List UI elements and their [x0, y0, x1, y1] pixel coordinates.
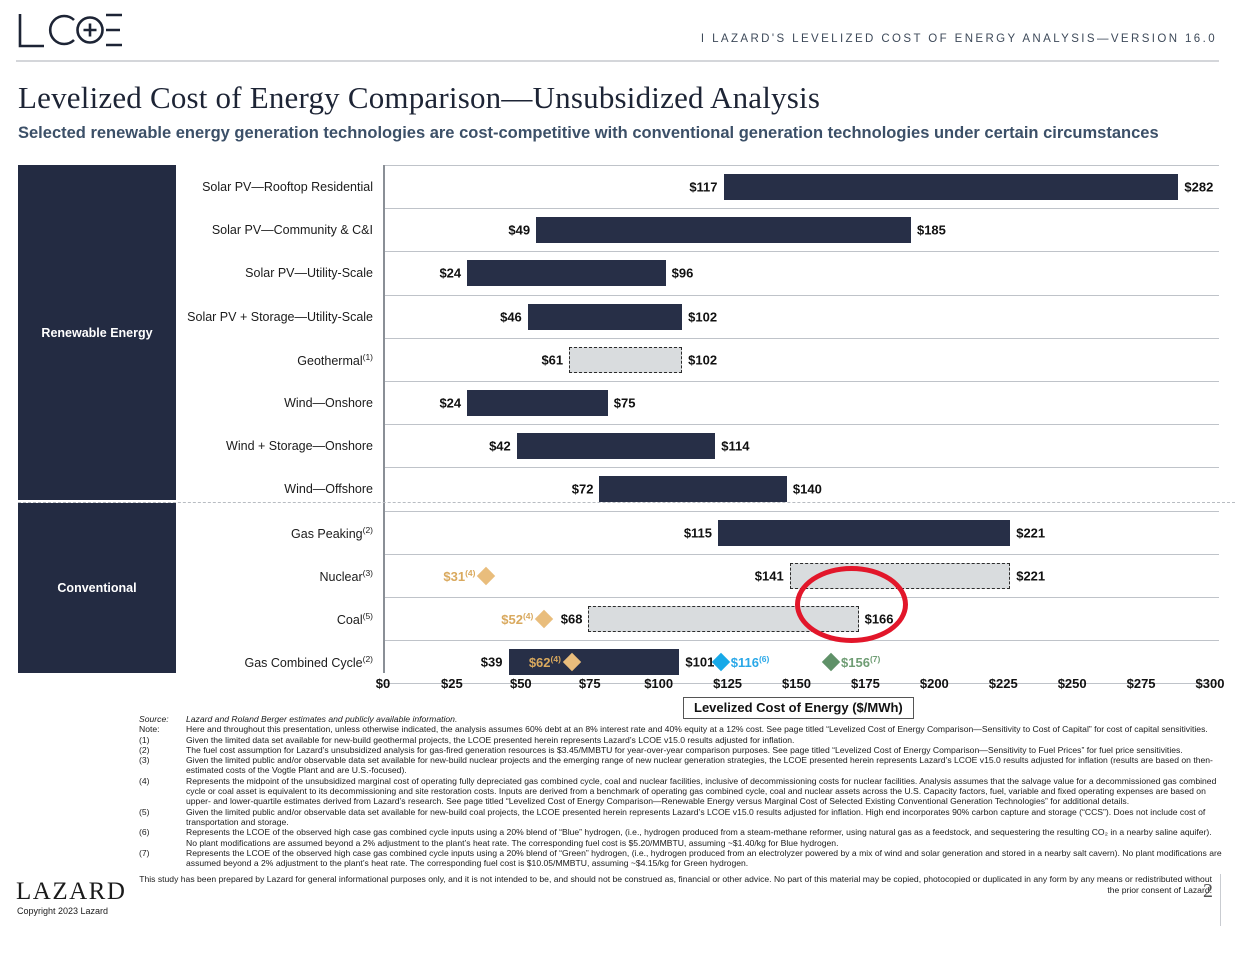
footnote-key: (2) — [139, 745, 186, 755]
marker-footnote-ref: (4) — [465, 568, 475, 578]
page-number: 2 — [1203, 880, 1213, 903]
category-panel-renewable: Renewable Energy — [18, 165, 176, 500]
bar-high-value: $96 — [672, 266, 694, 281]
row-label: Gas Combined Cycle(2) — [245, 654, 374, 670]
row-label: Solar PV—Utility-Scale — [245, 266, 373, 280]
row-label: Geothermal(1) — [297, 352, 373, 368]
row-label: Nuclear(3) — [320, 568, 373, 584]
bar-low-value: $115 — [684, 525, 712, 540]
marker-diamond-green — [822, 653, 840, 671]
marker-value-label: $31(4) — [443, 568, 475, 584]
lazard-logo: LAZARD — [16, 878, 126, 906]
group-divider — [18, 502, 1235, 503]
range-bar — [599, 476, 786, 502]
x-axis-tick: $125 — [713, 676, 742, 691]
x-axis-tick: $225 — [989, 676, 1018, 691]
footnote-key: (4) — [139, 776, 186, 807]
row-label: Solar PV—Community & C&I — [212, 223, 373, 237]
marker-value-label: $116(6) — [731, 654, 770, 670]
bar-high-value: $221 — [1016, 525, 1045, 540]
x-axis-tick: $300 — [1196, 676, 1225, 691]
footnote-item: (3)Given the limited public and/or obser… — [139, 755, 1224, 776]
chart-row: Solar PV—Utility-Scale$24$96 — [383, 252, 1219, 295]
bar-high-value: $101 — [685, 655, 714, 670]
bar-low-value: $68 — [561, 611, 583, 626]
lcoe-logo — [16, 10, 124, 59]
footnote-text: Given the limited data set available for… — [186, 735, 1224, 745]
page-subtitle: Selected renewable energy generation tec… — [18, 124, 1159, 143]
marker-footnote-ref: (6) — [759, 654, 769, 664]
range-bar — [528, 304, 682, 330]
row-plot: $117$282 — [401, 166, 1219, 208]
bar-high-value: $75 — [614, 396, 636, 411]
range-bar — [467, 390, 608, 416]
legal-disclaimer: This study has been prepared by Lazard f… — [139, 874, 1224, 895]
copyright-text: Copyright 2023 Lazard — [17, 906, 108, 916]
range-bar — [790, 563, 1011, 589]
bar-high-value: $166 — [865, 611, 894, 626]
footnote-text: Given the limited public and/or observab… — [186, 755, 1224, 776]
row-plot: $141$221$31(4) — [401, 555, 1219, 597]
x-axis-tick: $175 — [851, 676, 880, 691]
row-plot: $49$185 — [401, 209, 1219, 251]
chart-row: Solar PV—Rooftop Residential$117$282 — [383, 165, 1219, 209]
bar-low-value: $39 — [481, 655, 503, 670]
footnote-key: (6) — [139, 827, 186, 848]
row-label-footnote-ref: (2) — [363, 654, 373, 664]
header-divider — [16, 60, 1219, 62]
header-deck-title: I LAZARD'S LEVELIZED COST OF ENERGY ANAL… — [701, 33, 1217, 45]
row-label: Gas Peaking(2) — [291, 525, 373, 541]
x-axis: $0$25$50$75$100$125$150$175$200$225$250$… — [0, 676, 1235, 698]
row-label: Solar PV—Rooftop Residential — [202, 180, 373, 194]
footnote-text: The fuel cost assumption for Lazard’s un… — [186, 745, 1224, 755]
chart-row: Nuclear(3)$141$221$31(4) — [383, 555, 1219, 598]
footnotes-block: Source:Lazard and Roland Berger estimate… — [139, 714, 1224, 895]
page-number-divider — [1220, 874, 1221, 926]
bar-low-value: $141 — [755, 568, 784, 583]
bar-high-value: $282 — [1184, 180, 1213, 195]
footnote-text: Lazard and Roland Berger estimates and p… — [186, 714, 1224, 724]
footnote-key: Source: — [139, 714, 186, 724]
marker-diamond-gold — [477, 567, 495, 585]
footnote-key: (1) — [139, 735, 186, 745]
x-axis-tick: $250 — [1058, 676, 1087, 691]
row-plot: $68$166$52(4) — [401, 598, 1219, 640]
footnote-item: (2)The fuel cost assumption for Lazard’s… — [139, 745, 1224, 755]
footnote-item: (1)Given the limited data set available … — [139, 735, 1224, 745]
row-plot: $24$96 — [401, 252, 1219, 294]
footnote-key: (3) — [139, 755, 186, 776]
range-bar — [517, 433, 715, 459]
page-title: Levelized Cost of Energy Comparison—Unsu… — [18, 80, 820, 116]
chart-row: Solar PV—Community & C&I$49$185 — [383, 209, 1219, 252]
footnote-key: (7) — [139, 848, 186, 869]
marker-value-label: $52(4) — [501, 611, 533, 627]
range-bar — [724, 174, 1179, 200]
x-axis-tick: $50 — [510, 676, 532, 691]
row-label: Coal(5) — [337, 611, 373, 627]
row-label-footnote-ref: (3) — [363, 568, 373, 578]
row-label: Wind—Onshore — [284, 396, 373, 410]
bar-high-value: $114 — [721, 439, 749, 454]
chart-rows: Solar PV—Rooftop Residential$117$282Sola… — [383, 165, 1219, 673]
bar-low-value: $72 — [572, 482, 594, 497]
footnote-item: (7)Represents the LCOE of the observed h… — [139, 848, 1224, 869]
row-label: Wind—Offshore — [284, 482, 373, 496]
category-panel-conventional: Conventional — [18, 503, 176, 673]
bar-low-value: $46 — [500, 309, 522, 324]
x-axis-tick: $150 — [782, 676, 811, 691]
footnote-text: Represents the LCOE of the observed high… — [186, 848, 1224, 869]
x-axis-tick: $25 — [441, 676, 463, 691]
chart-row: Geothermal(1)$61$102 — [383, 339, 1219, 382]
chart-row: Wind—Onshore$24$75 — [383, 382, 1219, 425]
x-axis-tick: $100 — [644, 676, 673, 691]
range-bar — [569, 347, 682, 373]
footnote-item: (5)Given the limited public and/or obser… — [139, 807, 1224, 828]
row-plot: $24$75 — [401, 382, 1219, 424]
chart-row: Wind—Offshore$72$140 — [383, 468, 1219, 511]
footnote-item: Source:Lazard and Roland Berger estimate… — [139, 714, 1224, 724]
range-bar — [718, 520, 1010, 546]
category-label-renewable: Renewable Energy — [41, 326, 152, 340]
row-label: Wind + Storage—Onshore — [226, 439, 373, 453]
category-label-conventional: Conventional — [57, 581, 136, 595]
bar-low-value: $49 — [508, 223, 530, 238]
footnote-item: (6)Represents the LCOE of the observed h… — [139, 827, 1224, 848]
range-bar — [588, 606, 858, 632]
bar-low-value: $42 — [489, 439, 511, 454]
row-plot: $115$221 — [401, 512, 1219, 554]
footnote-text: Given the limited public and/or observab… — [186, 807, 1224, 828]
chart-row: Gas Peaking(2)$115$221 — [383, 512, 1219, 555]
footnote-item: (4)Represents the midpoint of the unsubs… — [139, 776, 1224, 807]
x-axis-tick: $75 — [579, 676, 601, 691]
bar-low-value: $24 — [439, 266, 461, 281]
chart-row: Wind + Storage—Onshore$42$114 — [383, 425, 1219, 468]
chart-row: Coal(5)$68$166$52(4) — [383, 598, 1219, 641]
bar-high-value: $221 — [1016, 568, 1045, 583]
range-bar — [467, 260, 665, 286]
page-header: I LAZARD'S LEVELIZED COST OF ENERGY ANAL… — [0, 0, 1235, 64]
row-label: Solar PV + Storage—Utility-Scale — [187, 310, 373, 324]
marker-value-label: $156(7) — [841, 654, 880, 670]
row-plot: $61$102 — [401, 339, 1219, 381]
row-label-footnote-ref: (5) — [363, 611, 373, 621]
row-plot: $42$114 — [401, 425, 1219, 467]
row-label-footnote-ref: (2) — [363, 525, 373, 535]
row-plot: $46$102 — [401, 296, 1219, 338]
x-axis-tick: $0 — [376, 676, 390, 691]
bar-high-value: $140 — [793, 482, 822, 497]
footnote-text: Represents the LCOE of the observed high… — [186, 827, 1224, 848]
footnote-text: Here and throughout this presentation, u… — [186, 724, 1224, 734]
bar-low-value: $117 — [689, 180, 717, 195]
row-plot: $72$140 — [401, 468, 1219, 510]
marker-value-label: $62(4) — [529, 654, 561, 670]
marker-footnote-ref: (4) — [551, 654, 561, 664]
bar-low-value: $24 — [439, 396, 461, 411]
row-label-footnote-ref: (1) — [363, 352, 373, 362]
range-bar — [536, 217, 911, 243]
bar-low-value: $61 — [541, 352, 563, 367]
marker-diamond-gold — [535, 610, 553, 628]
chart-container: Renewable Energy Conventional Solar PV—R… — [18, 165, 1219, 673]
footnote-item: Note:Here and throughout this presentati… — [139, 724, 1224, 734]
y-axis-line — [383, 165, 385, 673]
footnote-key: Note: — [139, 724, 186, 734]
x-axis-tick: $200 — [920, 676, 949, 691]
marker-footnote-ref: (4) — [523, 611, 533, 621]
bar-high-value: $102 — [688, 352, 717, 367]
footnote-key: (5) — [139, 807, 186, 828]
bar-high-value: $185 — [917, 223, 946, 238]
footnote-text: Represents the midpoint of the unsubsidi… — [186, 776, 1224, 807]
marker-footnote-ref: (7) — [870, 654, 880, 664]
chart-row: Solar PV + Storage—Utility-Scale$46$102 — [383, 296, 1219, 339]
x-axis-tick: $275 — [1127, 676, 1156, 691]
bar-high-value: $102 — [688, 309, 717, 324]
